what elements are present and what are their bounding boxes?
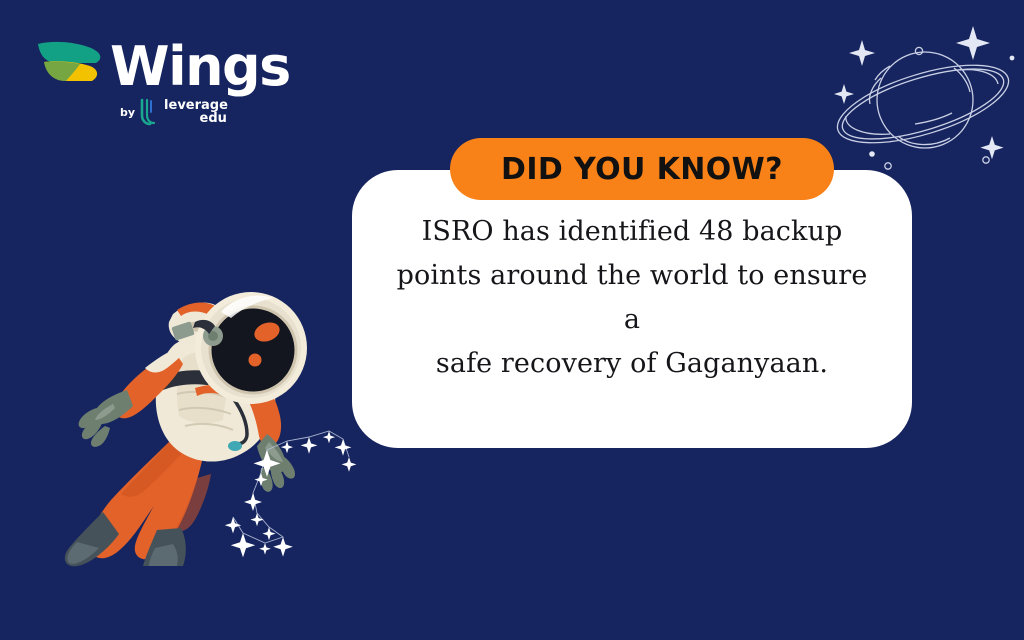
card-body: ISRO has identified 48 backuppoints arou… — [352, 210, 912, 410]
card-title: DID YOU KNOW? — [501, 152, 783, 187]
brand-logo[interactable]: Wings by leverage edu — [32, 24, 242, 134]
did-you-know-badge: DID YOU KNOW? — [450, 138, 834, 200]
brand-wordmark: Wings — [110, 40, 290, 94]
by-label: by — [120, 106, 135, 119]
partner-name: leverage edu — [164, 99, 228, 125]
constellation-icon — [225, 415, 385, 575]
fact-text: ISRO has identified 48 backuppoints arou… — [392, 210, 872, 386]
poster-canvas: Wings by leverage edu — [0, 0, 1024, 640]
leverage-check-icon — [139, 98, 159, 126]
wing-logo-icon — [36, 38, 116, 90]
partner-name-line2: edu — [164, 112, 228, 125]
saturn-planet-icon — [820, 8, 1024, 174]
partner-lockup: by leverage edu — [120, 96, 228, 128]
